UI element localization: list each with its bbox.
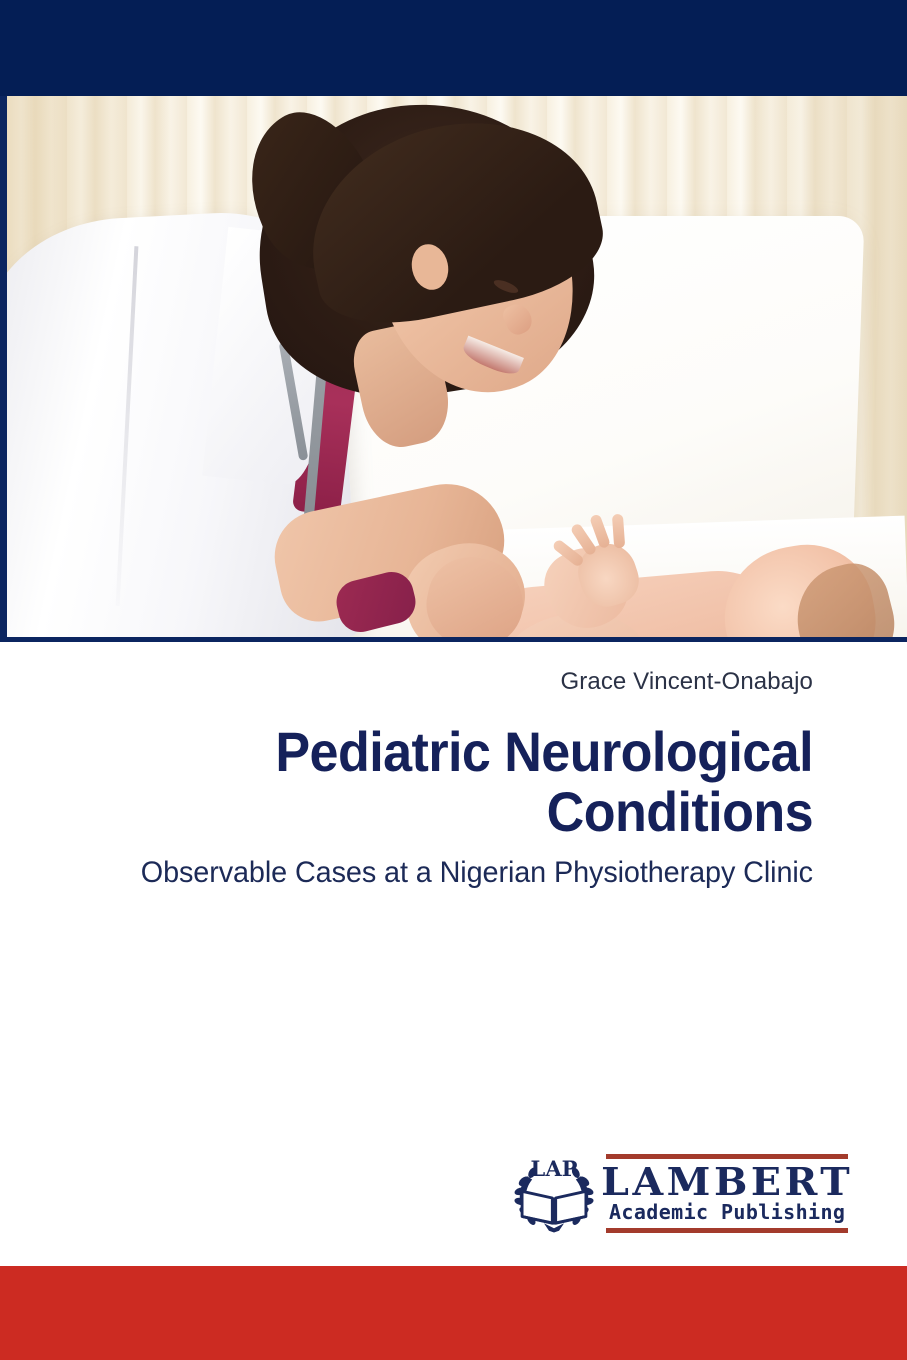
subtitle: Observable Cases at a Nigerian Physiothe… — [83, 856, 813, 890]
publisher-name: LAMBERT — [601, 1159, 853, 1201]
baby-finger — [612, 514, 625, 549]
author-name: Grace Vincent-Onabajo — [561, 668, 813, 696]
cover-photo-canvas — [7, 96, 907, 637]
cover-photo — [0, 96, 907, 642]
book-cover: Grace Vincent-Onabajo Pediatric Neurolog… — [0, 0, 907, 1360]
logo-rule-bottom — [606, 1228, 848, 1233]
title-line-2: Conditions — [106, 782, 813, 842]
page-title: Pediatric Neurological Conditions — [106, 722, 813, 843]
title-line-1: Pediatric Neurological — [106, 722, 813, 782]
top-navy-band — [0, 0, 907, 96]
lambert-wordmark: LAMBERT Academic Publishing — [606, 1154, 848, 1233]
publisher-tagline: Academic Publishing — [606, 1201, 848, 1228]
publisher-logo: LAP LAMBERT Academic Publishing — [512, 1150, 824, 1236]
bottom-red-band — [0, 1266, 907, 1360]
lap-emblem-text: LAP — [531, 1156, 578, 1181]
lap-emblem-icon: LAP — [512, 1151, 596, 1235]
